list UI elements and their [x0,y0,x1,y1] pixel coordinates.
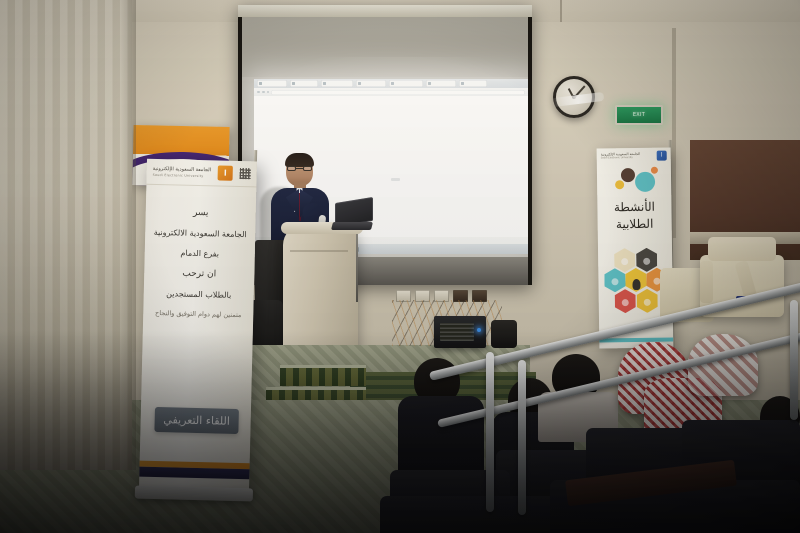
banner-tagline-bar: اللقاء التعريفي [154,407,239,434]
circle-icon [635,172,655,192]
step [280,368,366,386]
glasses-lens-left [287,166,296,171]
wall-clock-icon [553,76,595,118]
hexagon-icon-center [625,268,646,292]
hexagon-glyph [643,257,650,264]
banner-line: متمنين لهم دوام التوفيق والنجاح [155,309,242,319]
banner-line: ان ترحب [182,269,216,280]
browser-tab[interactable] [257,80,287,87]
screen-upper-shade [242,17,528,77]
banner-line: بفرع الدمام [180,249,219,259]
wall-trim-seam [672,28,676,238]
browser-tab[interactable] [290,80,318,87]
curtain-edge-shadow [120,0,136,470]
circle-icon [615,180,624,189]
tab-favicon-icon [461,82,464,85]
glasses-icon [287,166,312,171]
page-faint-mark [391,178,400,181]
browser-tab-bar[interactable] [254,79,528,88]
handrail-post [486,352,494,512]
tab-favicon-icon [358,82,361,85]
event-photo-scene: EXIT [0,0,800,533]
banner-left-body: يسر الجامعة السعودية الالكترونية بفرع ال… [142,193,257,386]
handrail-post [790,300,798,420]
tab-favicon-icon [323,82,326,85]
banner-left-header: الجامعة السعودية الإلكترونية Saudi Elect… [146,159,257,188]
browser-tab[interactable] [356,80,386,87]
forward-arrow-icon[interactable] [262,91,265,94]
audience-body [398,396,484,480]
circle-icon [651,167,658,174]
logo-english-text: Saudi Electronic University [153,173,211,178]
banner-line: يسر [193,208,209,218]
logo-mark-icon: ا [218,165,233,180]
glasses-bridge [296,168,303,169]
armchair-arm-left [700,261,713,303]
armchair-back [708,237,776,261]
circle-icon [621,168,635,182]
browser-address-bar[interactable] [254,88,528,96]
exit-sign: EXIT [615,105,663,125]
banner-title-line: الأنشطة [614,200,655,215]
hexagon-icon [604,268,625,292]
browser-tab[interactable] [321,80,353,87]
url-input[interactable] [271,90,525,95]
banner-left-welcome: الجامعة السعودية الإلكترونية Saudi Elect… [139,159,257,492]
banner-line: بالطلاب المستجدين [166,289,231,300]
browser-tab[interactable] [459,80,487,87]
back-arrow-icon[interactable] [257,91,260,94]
hexagon-icon [614,248,635,272]
banner-right-header: الجامعة السعودية الإلكترونية Saudi Elect… [597,147,671,163]
browser-tab[interactable] [426,80,456,87]
wall-curtain [0,0,132,470]
banner-tagline-text: اللقاء التعريفي [163,413,230,428]
reload-icon[interactable] [267,91,270,94]
banner-stripe-navy [139,467,249,480]
hexagon-icon [636,248,657,272]
university-logo: الجامعة السعودية الإلكترونية Saudi Elect… [153,166,212,178]
tab-favicon-icon [391,82,394,85]
hexagon-glyph [621,258,628,265]
lectern [283,225,358,360]
laptop-keyboard[interactable] [331,222,373,230]
banner-right-title: الأنشطة الطلابية [597,199,671,231]
person-silhouette-icon [632,278,640,289]
handrail-post [518,360,526,515]
browser-tab[interactable] [389,80,423,87]
logo-mark-icon: ا [657,150,667,160]
presenter-hair [285,153,314,167]
university-logo: الجامعة السعودية الإلكترونية Saudi Elect… [601,152,640,160]
tab-favicon-icon [259,82,262,85]
banner-line: الجامعة السعودية الالكترونية [154,228,247,239]
qr-code-icon [240,168,251,179]
lectern-seam [290,250,348,252]
screen-casing [238,5,532,17]
mic-stand [356,234,358,302]
exit-sign-label: EXIT [633,112,645,118]
decorative-circles [597,165,671,196]
glasses-lens-right [303,166,312,171]
banner-title-line: الطلابية [616,217,654,232]
tab-favicon-icon [428,82,431,85]
hexagon-glyph [611,278,618,285]
tab-favicon-icon [292,82,295,85]
logo-english-text: Saudi Electronic University [601,156,640,160]
